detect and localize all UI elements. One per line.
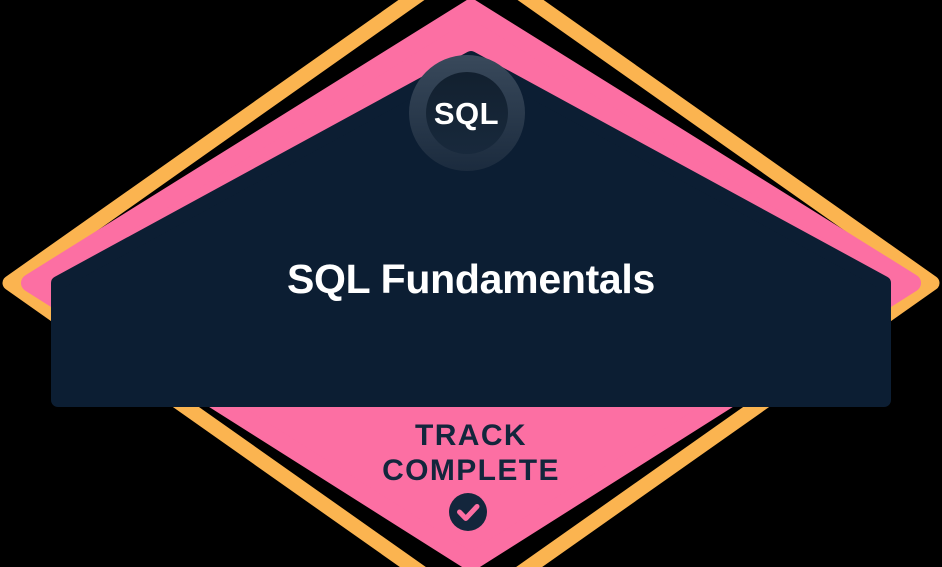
check-circle-bg: [449, 493, 487, 531]
badge-graphic: [0, 0, 942, 567]
track-badge[interactable]: SQL SQL Fundamentals TRACK COMPLETE: [0, 0, 942, 567]
sql-chip-inner: [426, 72, 508, 154]
